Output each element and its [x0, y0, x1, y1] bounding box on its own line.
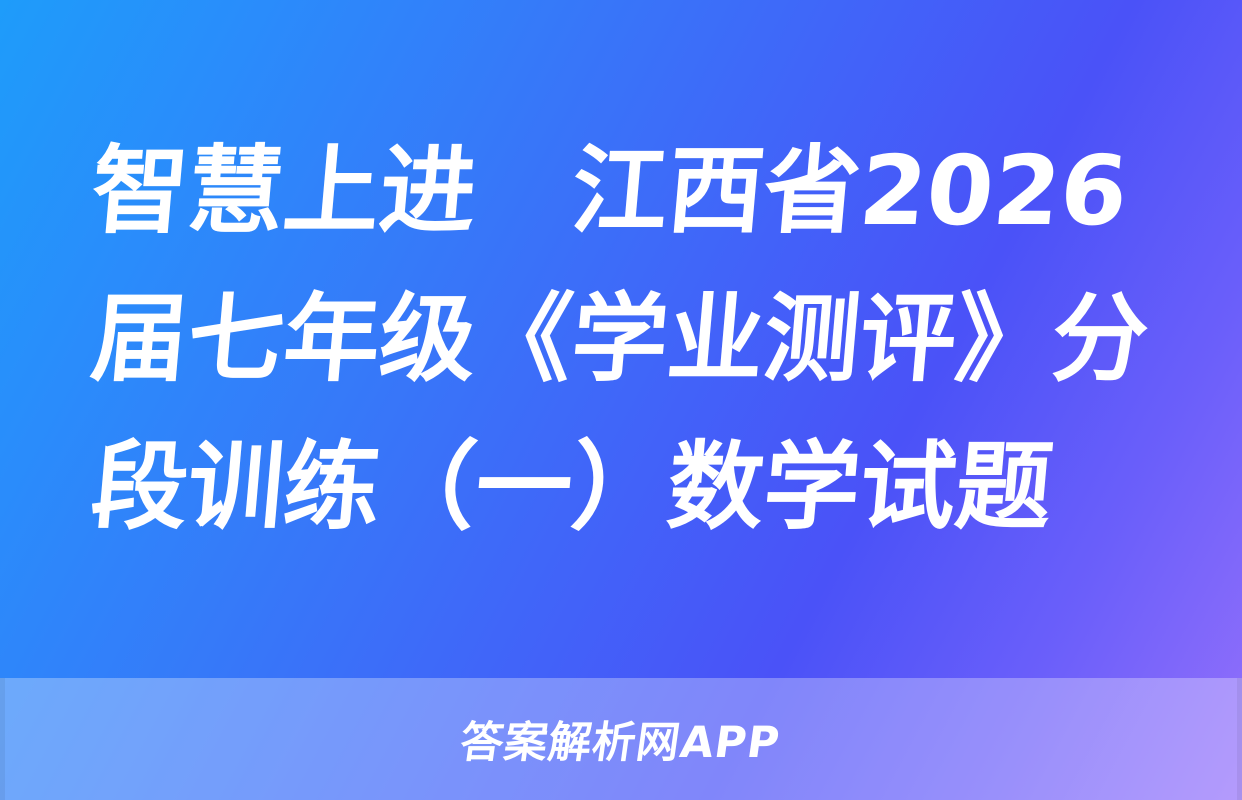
watermark-text: 答案解析网APP — [457, 708, 785, 770]
band-edge-left — [0, 678, 5, 800]
title-block: 智慧上进 江西省2026 届七年级《学业测评》分 段训练（一）数学试题 — [0, 0, 1242, 678]
title-line-2: 届七年级《学业测评》分 — [86, 265, 1155, 413]
title-line-3: 段训练（一）数学试题 — [86, 413, 1059, 561]
band-edge-right — [1237, 678, 1242, 800]
title-card: 智慧上进 江西省2026 届七年级《学业测评》分 段训练（一）数学试题 答案解析… — [0, 0, 1242, 800]
watermark-band: 答案解析网APP — [0, 678, 1242, 800]
title-line-1: 智慧上进 江西省2026 — [86, 117, 1134, 265]
